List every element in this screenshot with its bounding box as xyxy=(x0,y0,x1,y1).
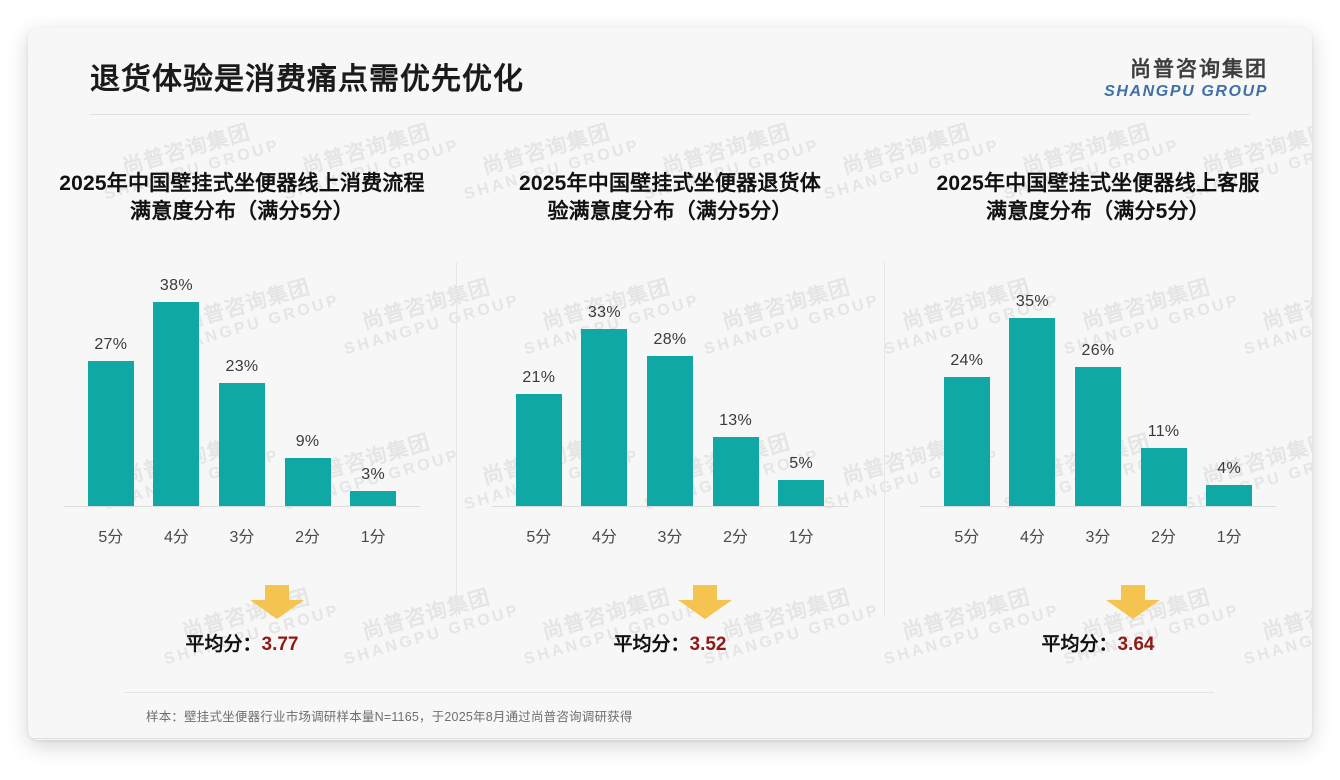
bar-value-label: 38% xyxy=(160,277,193,295)
x-axis-tick-label: 3分 xyxy=(1070,523,1126,547)
x-axis-line xyxy=(492,506,848,507)
chart-title-line-1: 2025年中国壁挂式坐便器线上消费流程 xyxy=(52,170,432,198)
logo-english-text: SHANGPU GROUP xyxy=(1104,82,1268,101)
bar-item[interactable]: 28% xyxy=(642,257,698,507)
bar[interactable] xyxy=(944,377,990,507)
bar-item[interactable]: 33% xyxy=(577,257,633,507)
bar-value-label: 3% xyxy=(361,466,385,484)
bar-item[interactable]: 9% xyxy=(280,257,336,507)
slide-card: 尚普咨询集团SHANGPU GROUP尚普咨询集团SHANGPU GROUP尚普… xyxy=(28,28,1312,740)
bar-value-label: 9% xyxy=(296,433,320,451)
bar-value-label: 13% xyxy=(719,412,752,430)
average-score-value: 3.52 xyxy=(690,634,727,655)
x-axis-tick-label: 5分 xyxy=(511,523,567,547)
x-axis-tick-label: 2分 xyxy=(1136,523,1192,547)
x-axis-labels: 5分4分3分2分1分 xyxy=(78,507,406,547)
bar-value-label: 21% xyxy=(522,369,555,387)
panel-divider xyxy=(456,262,457,617)
x-axis-tick-label: 3分 xyxy=(214,523,270,547)
chart-title-line-1: 2025年中国壁挂式坐便器线上客服 xyxy=(908,170,1288,198)
bar-value-label: 33% xyxy=(588,304,621,322)
bar-item[interactable]: 4% xyxy=(1201,257,1257,507)
bar[interactable] xyxy=(778,480,824,507)
average-score-text: 平均分：3.77 xyxy=(186,629,299,656)
average-score-label: 平均分： xyxy=(1042,634,1118,655)
bar-item[interactable]: 24% xyxy=(939,257,995,507)
panel-divider xyxy=(884,262,885,617)
down-arrow-icon xyxy=(1106,585,1160,619)
x-axis-tick-label: 4分 xyxy=(1005,523,1061,547)
bar-group: 24%35%26%11%4% xyxy=(934,257,1262,507)
bar-item[interactable]: 26% xyxy=(1070,257,1126,507)
chart-title-line-1: 2025年中国壁挂式坐便器退货体 xyxy=(480,170,860,198)
average-score-label: 平均分： xyxy=(186,634,262,655)
x-axis-tick-label: 1分 xyxy=(773,523,829,547)
bar-item[interactable]: 5% xyxy=(773,257,829,507)
chart-title-line-2: 满意度分布（满分5分） xyxy=(52,198,432,226)
header-divider xyxy=(90,114,1250,115)
bar[interactable] xyxy=(1206,485,1252,507)
x-axis-tick-label: 2分 xyxy=(280,523,336,547)
chart-panel-2: 2025年中国壁挂式坐便器退货体验满意度分布（满分5分）21%33%28%13%… xyxy=(456,132,884,652)
brand-logo: 尚普咨询集团 SHANGPU GROUP xyxy=(1104,58,1268,101)
x-axis-labels: 5分4分3分2分1分 xyxy=(934,507,1262,547)
down-arrow-icon xyxy=(250,585,304,619)
bar[interactable] xyxy=(219,383,265,507)
x-axis-tick-label: 4分 xyxy=(149,523,205,547)
footer-divider xyxy=(28,738,1312,739)
x-axis-line xyxy=(920,506,1276,507)
bar-item[interactable]: 21% xyxy=(511,257,567,507)
bar-item[interactable]: 38% xyxy=(149,257,205,507)
bar-item[interactable]: 23% xyxy=(214,257,270,507)
plot-area: 21%33%28%13%5% xyxy=(506,257,834,507)
average-score-label: 平均分： xyxy=(614,634,690,655)
bar-value-label: 11% xyxy=(1148,423,1180,441)
plot-area: 27%38%23%9%3% xyxy=(78,257,406,507)
chart-title: 2025年中国壁挂式坐便器线上客服满意度分布（满分5分） xyxy=(898,132,1298,227)
average-score-text: 平均分：3.64 xyxy=(1042,629,1155,656)
average-score-block: 平均分：3.64 xyxy=(898,585,1298,656)
bar-group: 27%38%23%9%3% xyxy=(78,257,406,507)
average-score-text: 平均分：3.52 xyxy=(614,629,727,656)
bar[interactable] xyxy=(285,458,331,507)
average-score-value: 3.64 xyxy=(1118,634,1155,655)
bar[interactable] xyxy=(647,356,693,507)
average-score-block: 平均分：3.52 xyxy=(470,585,870,656)
x-axis-tick-label: 3分 xyxy=(642,523,698,547)
x-axis-tick-label: 5分 xyxy=(939,523,995,547)
bar[interactable] xyxy=(1009,318,1055,507)
bar-item[interactable]: 3% xyxy=(345,257,401,507)
bar-value-label: 26% xyxy=(1082,342,1115,360)
bar-item[interactable]: 13% xyxy=(708,257,764,507)
bar-group: 21%33%28%13%5% xyxy=(506,257,834,507)
footnote-divider xyxy=(124,692,1214,693)
bar-item[interactable]: 35% xyxy=(1005,257,1061,507)
chart-title-line-2: 验满意度分布（满分5分） xyxy=(480,198,860,226)
bar[interactable] xyxy=(516,394,562,507)
plot-area: 24%35%26%11%4% xyxy=(934,257,1262,507)
bar-value-label: 5% xyxy=(789,455,813,473)
charts-container: 2025年中国壁挂式坐便器线上消费流程满意度分布（满分5分）27%38%23%9… xyxy=(28,132,1312,652)
chart-title: 2025年中国壁挂式坐便器线上消费流程满意度分布（满分5分） xyxy=(42,132,442,227)
bar[interactable] xyxy=(581,329,627,507)
chart-title: 2025年中国壁挂式坐便器退货体验满意度分布（满分5分） xyxy=(470,132,870,227)
chart-panel-1: 2025年中国壁挂式坐便器线上消费流程满意度分布（满分5分）27%38%23%9… xyxy=(28,132,456,652)
bar[interactable] xyxy=(88,361,134,507)
bar-value-label: 27% xyxy=(94,336,127,354)
bar-item[interactable]: 11% xyxy=(1136,257,1192,507)
bar[interactable] xyxy=(713,437,759,507)
chart-panel-3: 2025年中国壁挂式坐便器线上客服满意度分布（满分5分）24%35%26%11%… xyxy=(884,132,1312,652)
bar[interactable] xyxy=(1075,367,1121,507)
chart-title-line-2: 满意度分布（满分5分） xyxy=(908,198,1288,226)
x-axis-tick-label: 1分 xyxy=(1201,523,1257,547)
bar-value-label: 28% xyxy=(654,331,687,349)
average-score-value: 3.77 xyxy=(262,634,299,655)
down-arrow-icon xyxy=(678,585,732,619)
logo-chinese-text: 尚普咨询集团 xyxy=(1104,58,1268,82)
bar-value-label: 23% xyxy=(226,358,259,376)
bar[interactable] xyxy=(350,491,396,507)
x-axis-tick-label: 2分 xyxy=(708,523,764,547)
average-score-block: 平均分：3.77 xyxy=(42,585,442,656)
bar-value-label: 24% xyxy=(950,352,983,370)
x-axis-tick-label: 1分 xyxy=(345,523,401,547)
slide-header: 退货体验是消费痛点需优先优化 尚普咨询集团 SHANGPU GROUP xyxy=(28,28,1312,114)
bar-value-label: 4% xyxy=(1217,460,1241,478)
bar[interactable] xyxy=(153,302,199,507)
page-title: 退货体验是消费痛点需优先优化 xyxy=(90,54,524,98)
bar[interactable] xyxy=(1141,448,1187,507)
x-axis-tick-label: 4分 xyxy=(577,523,633,547)
x-axis-tick-label: 5分 xyxy=(83,523,139,547)
bar-value-label: 35% xyxy=(1016,293,1049,311)
x-axis-labels: 5分4分3分2分1分 xyxy=(506,507,834,547)
footnote-text: 样本：壁挂式坐便器行业市场调研样本量N=1165，于2025年8月通过尚普咨询调… xyxy=(146,706,633,725)
x-axis-line xyxy=(64,506,420,507)
bar-item[interactable]: 27% xyxy=(83,257,139,507)
